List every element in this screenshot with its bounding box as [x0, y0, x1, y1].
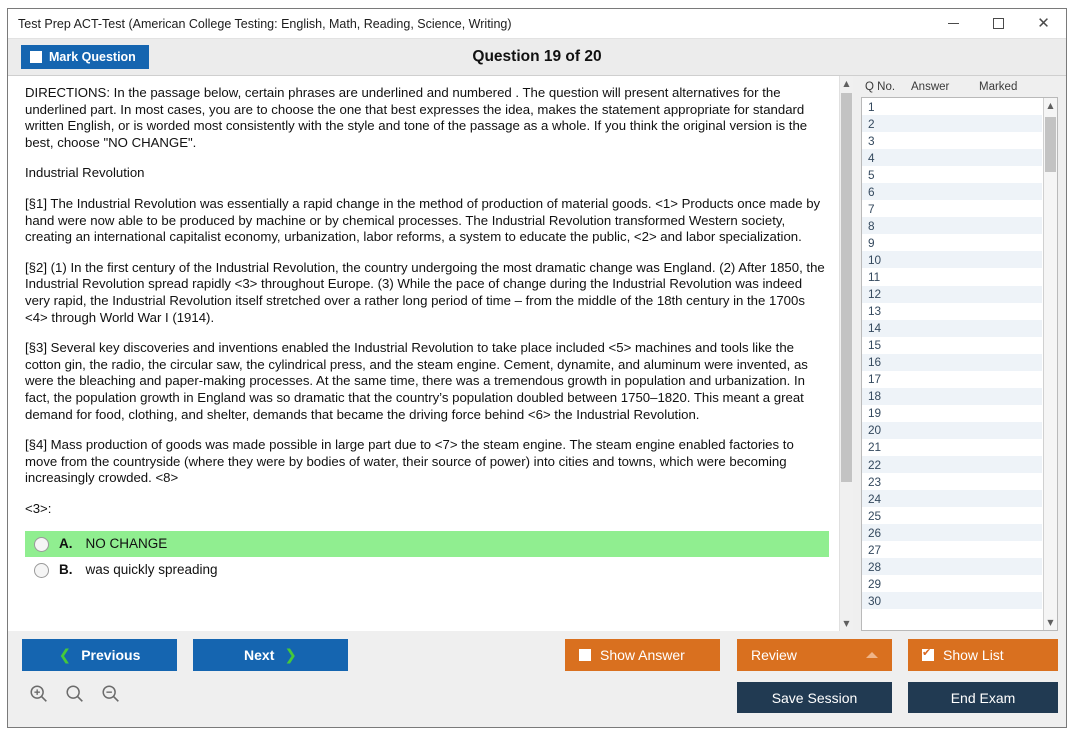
- scroll-down-icon[interactable]: ▼: [1044, 615, 1057, 630]
- end-exam-button[interactable]: End Exam: [908, 682, 1058, 713]
- passage-paragraph-3: [§3] Several key discoveries and inventi…: [25, 340, 829, 423]
- question-list-row[interactable]: 16: [862, 354, 1042, 371]
- question-list-row[interactable]: 10: [862, 251, 1042, 268]
- answer-option-b-letter: B.: [59, 562, 73, 579]
- exam-footer: ❮ Previous Next ❯ Show Answer Review Sho…: [8, 631, 1066, 727]
- question-number-cell: 13: [868, 304, 908, 318]
- question-list-row[interactable]: 23: [862, 473, 1042, 490]
- review-label: Review: [751, 647, 797, 663]
- minimize-icon: [948, 23, 959, 24]
- show-list-button[interactable]: Show List: [908, 639, 1058, 671]
- previous-button[interactable]: ❮ Previous: [22, 639, 177, 671]
- question-list-row[interactable]: 26: [862, 524, 1042, 541]
- question-list-scrollbar[interactable]: ▲ ▼: [1043, 98, 1057, 630]
- show-list-checkbox-icon[interactable]: [922, 649, 934, 661]
- next-label: Next: [244, 647, 274, 663]
- zoom-reset-icon[interactable]: [64, 683, 86, 705]
- question-list-row[interactable]: 15: [862, 337, 1042, 354]
- show-answer-label: Show Answer: [600, 647, 685, 663]
- title-bar: Test Prep ACT-Test (American College Tes…: [8, 9, 1066, 39]
- close-icon: ✕: [1037, 16, 1050, 31]
- passage-paragraph-2: [§2] (1) In the first century of the Ind…: [25, 260, 829, 326]
- passage-scroll-track[interactable]: [840, 91, 853, 616]
- question-number-cell: 16: [868, 355, 908, 369]
- question-number-cell: 20: [868, 423, 908, 437]
- question-number-cell: 30: [868, 594, 908, 608]
- minimize-button[interactable]: [931, 9, 976, 38]
- question-list-row[interactable]: 27: [862, 541, 1042, 558]
- mark-question-checkbox-icon[interactable]: [30, 51, 42, 63]
- question-list-row[interactable]: 25: [862, 507, 1042, 524]
- scroll-up-icon[interactable]: ▲: [840, 76, 853, 91]
- radio-icon[interactable]: [34, 537, 49, 552]
- question-list-row[interactable]: 28: [862, 558, 1042, 575]
- answer-option-a-text: NO CHANGE: [86, 536, 168, 553]
- review-dropdown[interactable]: Review: [737, 639, 892, 671]
- question-number-cell: 27: [868, 543, 908, 557]
- question-list-row[interactable]: 1: [862, 98, 1042, 115]
- radio-icon[interactable]: [34, 563, 49, 578]
- exam-header: Mark Question Question 19 of 20: [8, 39, 1066, 75]
- save-session-label: Save Session: [772, 690, 858, 706]
- question-list-row[interactable]: 13: [862, 303, 1042, 320]
- show-list-label: Show List: [943, 647, 1004, 663]
- next-button[interactable]: Next ❯: [193, 639, 348, 671]
- passage-scrollbar[interactable]: ▲ ▼: [839, 76, 853, 631]
- question-number-cell: 21: [868, 440, 908, 454]
- question-number-cell: 15: [868, 338, 908, 352]
- maximize-icon: [993, 18, 1004, 29]
- question-number-cell: 1: [868, 100, 908, 114]
- question-list-row[interactable]: 6: [862, 183, 1042, 200]
- mark-question-label: Mark Question: [49, 50, 136, 64]
- question-list-row[interactable]: 4: [862, 149, 1042, 166]
- window-controls: ✕: [931, 9, 1066, 38]
- question-list-row[interactable]: 19: [862, 405, 1042, 422]
- question-number-cell: 8: [868, 219, 908, 233]
- question-number-cell: 11: [868, 270, 908, 284]
- question-list-row[interactable]: 12: [862, 286, 1042, 303]
- chevron-right-icon: ❯: [284, 646, 297, 664]
- passage-pane: DIRECTIONS: In the passage below, certai…: [8, 76, 853, 631]
- question-list-row[interactable]: 5: [862, 166, 1042, 183]
- answer-options: A. NO CHANGE B. was quickly spreading: [25, 531, 829, 583]
- question-number-cell: 5: [868, 168, 908, 182]
- show-answer-button[interactable]: Show Answer: [565, 639, 720, 671]
- chevron-up-icon: [866, 652, 878, 658]
- zoom-out-icon[interactable]: [100, 683, 122, 705]
- window-title: Test Prep ACT-Test (American College Tes…: [8, 17, 512, 31]
- question-list-row[interactable]: 14: [862, 320, 1042, 337]
- question-list-row[interactable]: 2: [862, 115, 1042, 132]
- question-number-cell: 24: [868, 492, 908, 506]
- question-list-row[interactable]: 9: [862, 234, 1042, 251]
- question-number-cell: 23: [868, 475, 908, 489]
- passage-content: DIRECTIONS: In the passage below, certai…: [8, 76, 839, 631]
- question-number-cell: 3: [868, 134, 908, 148]
- question-list-row[interactable]: 29: [862, 575, 1042, 592]
- question-list-row[interactable]: 17: [862, 371, 1042, 388]
- maximize-button[interactable]: [976, 9, 1021, 38]
- question-list-row[interactable]: 18: [862, 388, 1042, 405]
- answer-option-a-letter: A.: [59, 536, 73, 553]
- question-number-cell: 29: [868, 577, 908, 591]
- list-scroll-track[interactable]: [1044, 113, 1057, 615]
- question-number-cell: 25: [868, 509, 908, 523]
- scroll-down-icon[interactable]: ▼: [840, 616, 853, 631]
- passage-paragraph-4: [§4] Mass production of goods was made p…: [25, 437, 829, 487]
- question-list-row[interactable]: 22: [862, 456, 1042, 473]
- question-number-cell: 19: [868, 406, 908, 420]
- answer-option-b-text: was quickly spreading: [86, 562, 218, 579]
- exam-body: DIRECTIONS: In the passage below, certai…: [8, 75, 1066, 631]
- question-number-cell: 26: [868, 526, 908, 540]
- close-button[interactable]: ✕: [1021, 9, 1066, 38]
- end-exam-label: End Exam: [951, 690, 1016, 706]
- question-list-pane: Q No. Answer Marked 12345678910111213141…: [853, 76, 1066, 631]
- question-number-cell: 6: [868, 185, 908, 199]
- question-list-row[interactable]: 30: [862, 592, 1042, 609]
- zoom-controls: [28, 683, 122, 705]
- question-number-cell: 28: [868, 560, 908, 574]
- show-answer-checkbox-icon[interactable]: [579, 649, 591, 661]
- column-header-answer: Answer: [911, 81, 979, 93]
- chevron-left-icon: ❮: [59, 646, 72, 664]
- column-header-marked: Marked: [979, 81, 1058, 93]
- question-number-cell: 22: [868, 458, 908, 472]
- question-list-header: Q No. Answer Marked: [861, 79, 1058, 97]
- previous-label: Previous: [81, 647, 140, 663]
- app-window: Test Prep ACT-Test (American College Tes…: [7, 8, 1067, 728]
- question-list-row[interactable]: 24: [862, 490, 1042, 507]
- question-prompt: <3>:: [25, 501, 829, 518]
- question-list-row[interactable]: 21: [862, 439, 1042, 456]
- passage-scroll-thumb[interactable]: [841, 93, 852, 482]
- question-number-cell: 17: [868, 372, 908, 386]
- question-list-row[interactable]: 20: [862, 422, 1042, 439]
- question-list-row[interactable]: 11: [862, 268, 1042, 285]
- question-list-row[interactable]: 3: [862, 132, 1042, 149]
- question-number-cell: 2: [868, 117, 908, 131]
- page-title: Question 19 of 20: [8, 48, 1066, 66]
- zoom-in-icon[interactable]: [28, 683, 50, 705]
- question-number-cell: 9: [868, 236, 908, 250]
- question-number-cell: 18: [868, 389, 908, 403]
- question-number-cell: 12: [868, 287, 908, 301]
- answer-option-b[interactable]: B. was quickly spreading: [25, 557, 829, 583]
- question-list-row[interactable]: 8: [862, 217, 1042, 234]
- question-number-cell: 10: [868, 253, 908, 267]
- list-scroll-thumb[interactable]: [1045, 117, 1056, 172]
- passage-heading: Industrial Revolution: [25, 165, 829, 182]
- question-list-row[interactable]: 7: [862, 200, 1042, 217]
- answer-option-a[interactable]: A. NO CHANGE: [25, 531, 829, 557]
- question-number-cell: 7: [868, 202, 908, 216]
- question-list-box: 1234567891011121314151617181920212223242…: [861, 97, 1058, 631]
- passage-paragraph-1: [§1] The Industrial Revolution was essen…: [25, 196, 829, 246]
- question-number-cell: 14: [868, 321, 908, 335]
- directions-text: DIRECTIONS: In the passage below, certai…: [25, 85, 829, 151]
- question-list-rows[interactable]: 1234567891011121314151617181920212223242…: [862, 98, 1042, 630]
- mark-question-button[interactable]: Mark Question: [21, 45, 149, 69]
- scroll-up-icon[interactable]: ▲: [1044, 98, 1057, 113]
- column-header-qno: Q No.: [865, 81, 911, 93]
- save-session-button[interactable]: Save Session: [737, 682, 892, 713]
- question-number-cell: 4: [868, 151, 908, 165]
